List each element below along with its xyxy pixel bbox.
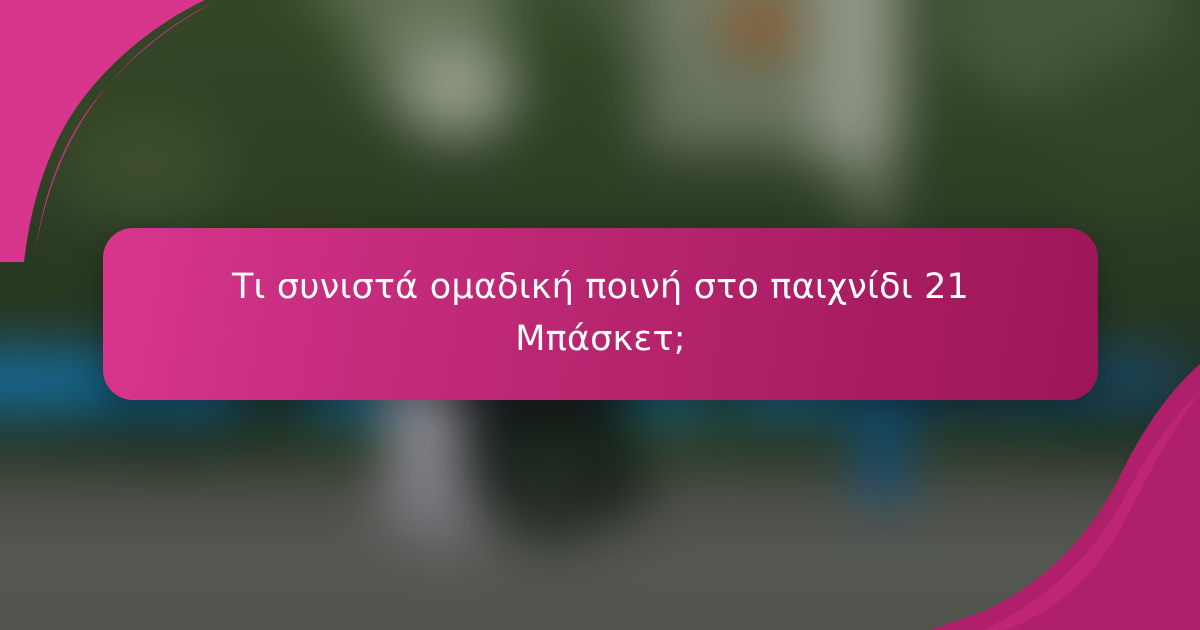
question-card: Τι συνιστά ομαδική ποινή στο παιχνίδι 21… <box>103 228 1098 400</box>
quiz-card-image: Τι συνιστά ομαδική ποινή στο παιχνίδι 21… <box>0 0 1200 630</box>
question-text: Τι συνιστά ομαδική ποινή στο παιχνίδι 21… <box>177 262 1024 366</box>
